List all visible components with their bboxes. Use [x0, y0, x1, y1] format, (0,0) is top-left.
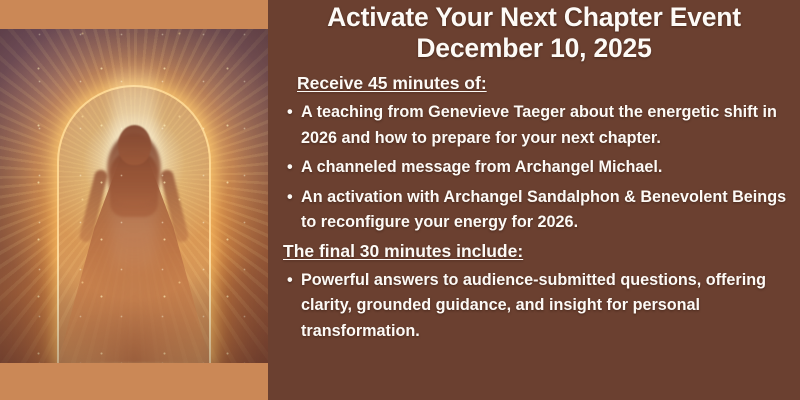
event-date-line: December 10, 2025 — [268, 33, 800, 64]
bullet-icon: • — [287, 185, 301, 236]
section-heading-second: The final 30 minutes include: — [283, 240, 788, 262]
artwork-panel — [0, 0, 268, 400]
text-column: Activate Your Next Chapter Event Decembe… — [268, 0, 800, 400]
bullet-icon: • — [287, 155, 301, 181]
list-item: • Powerful answers to audience-submitted… — [287, 268, 788, 345]
list-item: • A teaching from Genevieve Taeger about… — [287, 100, 788, 151]
bullet-icon: • — [287, 100, 301, 151]
bullet-icon: • — [287, 268, 301, 345]
event-details-block: Receive 45 minutes of: • A teaching from… — [268, 64, 800, 344]
list-item-text: A channeled message from Archangel Micha… — [301, 155, 788, 181]
event-promo-poster: Activate Your Next Chapter Event Decembe… — [0, 0, 800, 400]
event-title-block: Activate Your Next Chapter Event Decembe… — [268, 0, 800, 64]
list-item-text: An activation with Archangel Sandalphon … — [301, 185, 788, 236]
list-item: • An activation with Archangel Sandalpho… — [287, 185, 788, 236]
event-title-line1: Activate Your Next Chapter Event — [268, 2, 800, 33]
portal-figure-artwork — [0, 29, 268, 363]
list-item-text: A teaching from Genevieve Taeger about t… — [301, 100, 788, 151]
vignette-overlay — [0, 29, 268, 363]
list-item-text: Powerful answers to audience-submitted q… — [301, 268, 788, 345]
section-heading-first: Receive 45 minutes of: — [297, 72, 788, 94]
list-item: • A channeled message from Archangel Mic… — [287, 155, 788, 181]
